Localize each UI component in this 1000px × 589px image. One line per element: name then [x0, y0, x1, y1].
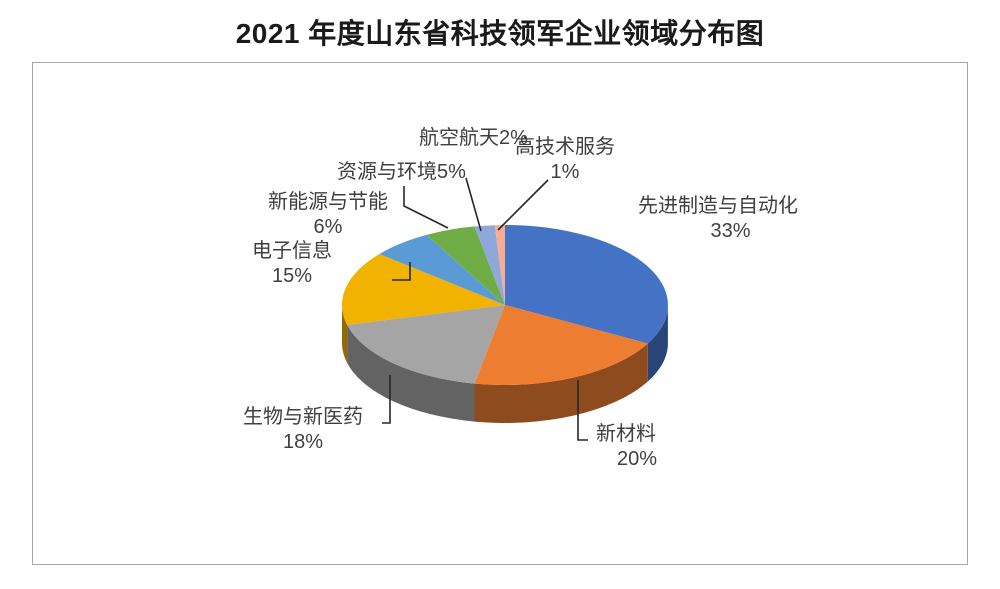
chart-title: 2021 年度山东省科技领军企业领域分布图 — [0, 12, 1000, 52]
data-label-resource-env: 资源与环境5% — [337, 160, 466, 185]
data-label-percent: 33% — [638, 219, 823, 244]
data-label-name: 高技术服务 — [515, 136, 615, 158]
data-label-name: 资源与环境 — [337, 161, 437, 183]
data-label-hi-tech-service: 高技术服务 1% — [505, 135, 625, 185]
data-label-new-materials: 新材料 20% — [596, 422, 678, 472]
data-label-name: 新能源与节能 — [268, 191, 388, 213]
data-label-percent: 15% — [240, 264, 344, 289]
data-label-percent: 5% — [437, 161, 466, 183]
data-label-percent: 18% — [223, 430, 383, 455]
data-label-name: 电子信息 — [252, 240, 332, 262]
data-label-name: 先进制造与自动化 — [638, 195, 798, 217]
data-label-bio-medicine: 生物与新医药 18% — [223, 405, 383, 455]
data-label-percent: 20% — [596, 447, 678, 472]
data-label-advanced-manufacturing: 先进制造与自动化 33% — [638, 194, 823, 244]
data-label-electronic-info: 电子信息 15% — [240, 239, 344, 289]
data-label-name: 新材料 — [596, 423, 656, 445]
data-label-percent: 1% — [505, 160, 625, 185]
pie-chart[interactable]: 2021 年度山东省科技领军企业领域分布图 — [0, 0, 1000, 589]
data-label-percent: 6% — [253, 215, 403, 240]
data-label-name: 生物与新医药 — [243, 406, 363, 428]
data-label-name: 航空航天 — [419, 127, 499, 149]
data-label-new-energy: 新能源与节能 6% — [253, 190, 403, 240]
